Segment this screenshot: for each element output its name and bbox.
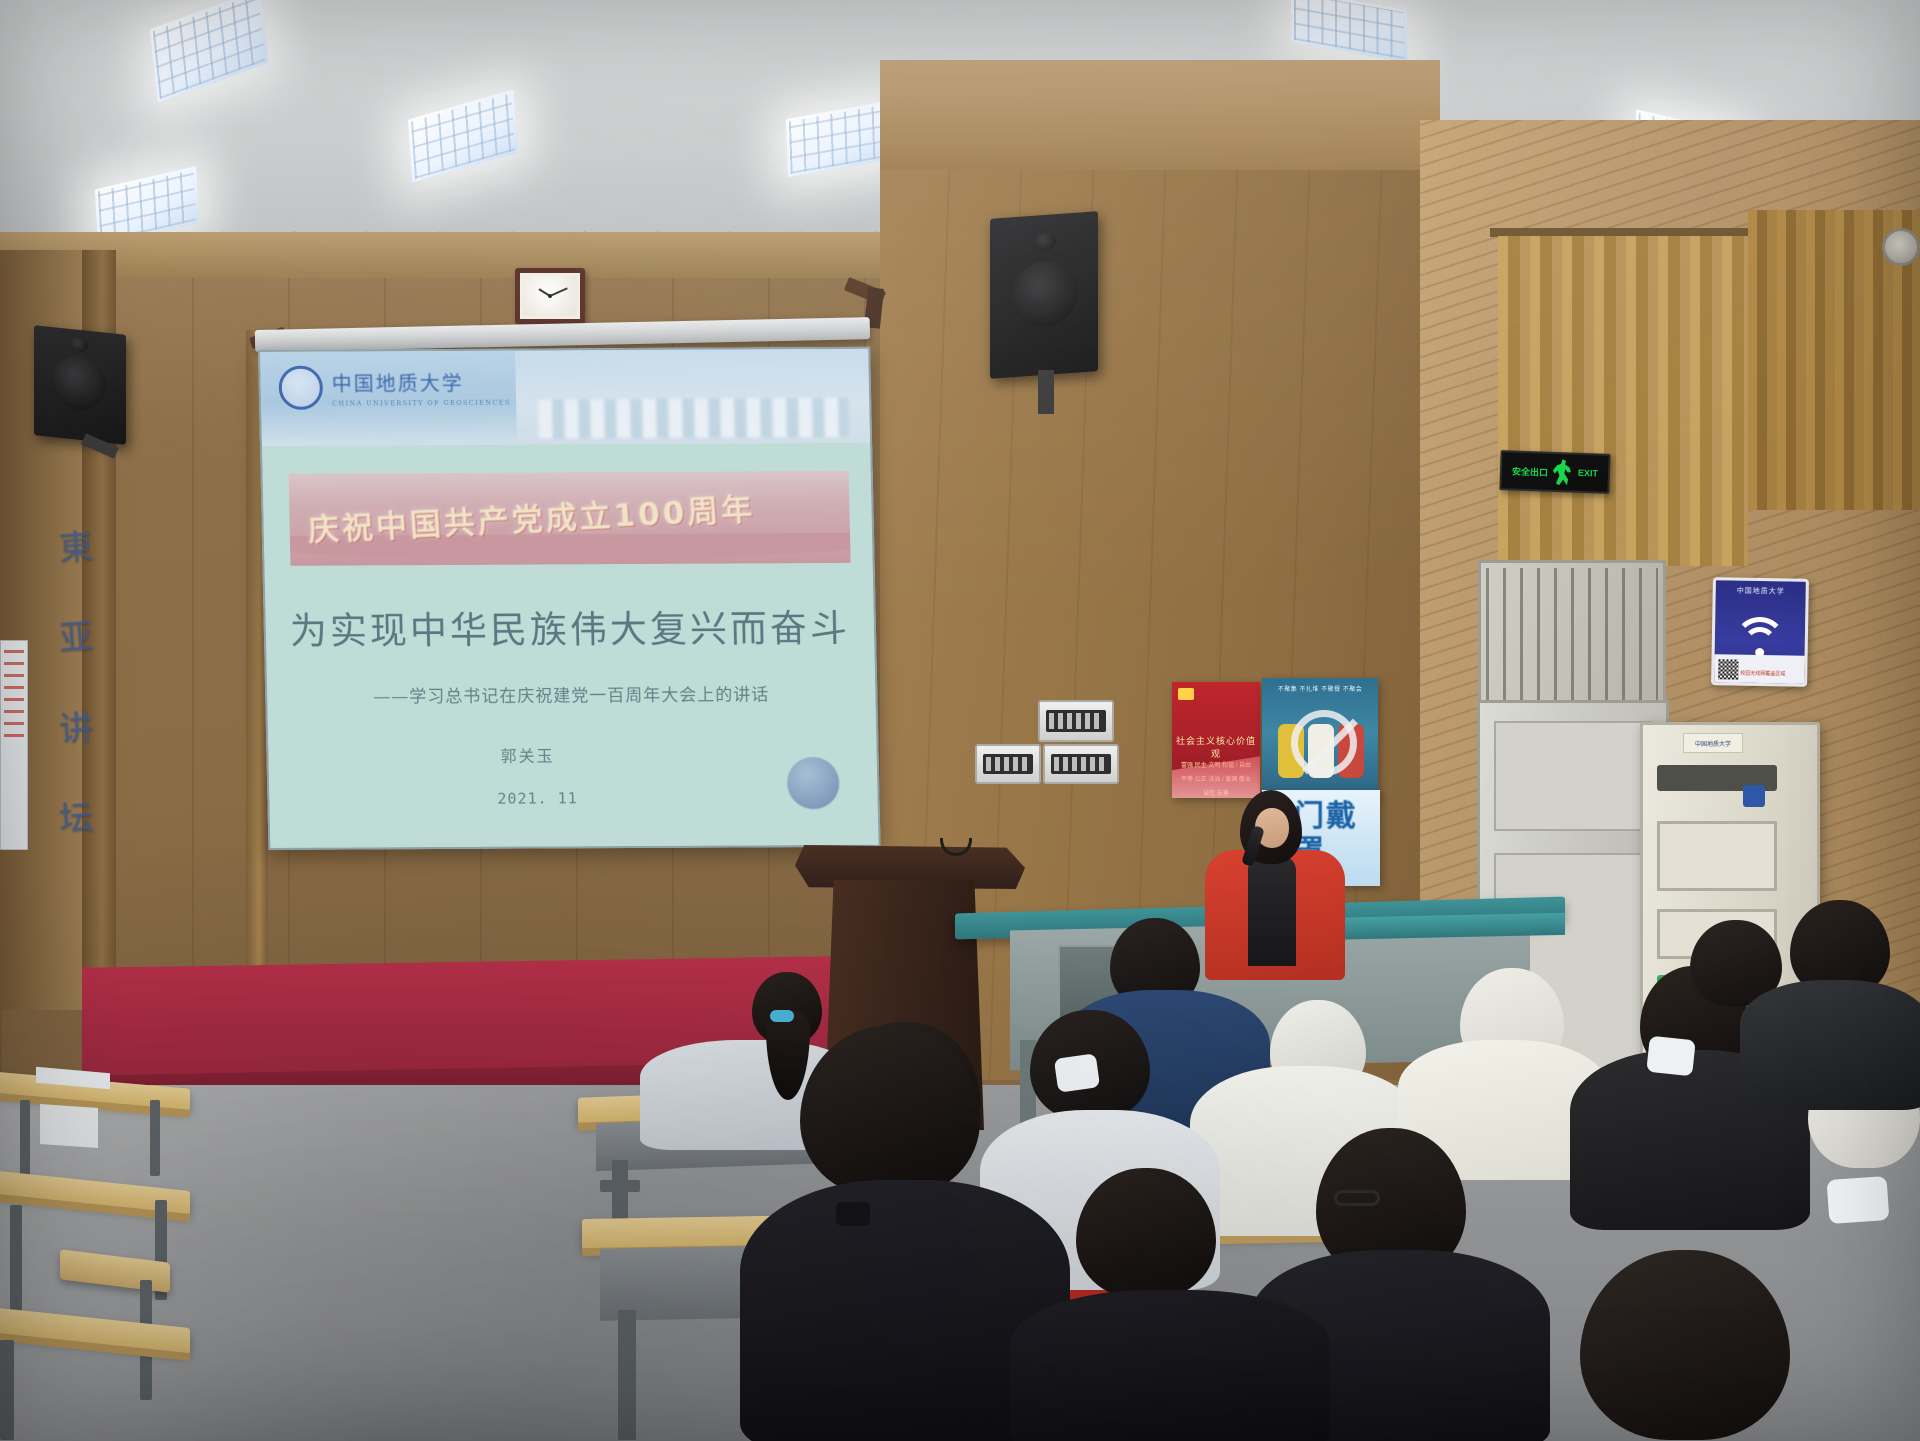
poster-red-title: 社会主义核心价值观 [1172,734,1260,760]
wall-fan-icon [1882,228,1920,266]
ceiling-light-2 [408,89,518,183]
ceiling-light-5 [1291,0,1407,63]
qr-code-icon [1718,659,1738,679]
speaker-bracket-right [1038,370,1054,414]
calligraphy-char-4: 坛 [57,790,94,841]
wristwatch-icon [836,1202,870,1226]
ceiling-light-4 [786,101,892,178]
curtain-left [1498,236,1748,566]
audience-body-13 [1010,1290,1330,1441]
wall-clock [515,268,585,324]
wifi-coverage-sign: 中国地质大学 校园无线网覆盖区域 [1711,577,1809,687]
loudspeaker-left [34,325,126,445]
university-logo-icon [278,366,323,410]
running-person-icon [1552,459,1575,486]
audience-head-11 [800,1026,980,1196]
presentation-slide: 中国地质大学 CHINA UNIVERSITY OF GEOSCIENCES 庆… [260,349,878,848]
university-name-en: CHINA UNIVERSITY OF GEOSCIENCES [332,399,511,408]
wifi-icon [1732,617,1789,658]
university-name-cn: 中国地质大学 [331,367,510,397]
desk-left-1-frame-2 [150,1100,160,1176]
slide-body: 庆祝中国共产党成立100周年 为实现中华民族伟大复兴而奋斗 ——学习总书记在庆祝… [262,443,878,848]
loudspeaker-right [990,211,1098,379]
poster-core-values: 社会主义核心价值观 富强 民主 文明 和谐 / 自由 平等 公正 法治 / 爱国… [1172,682,1260,798]
door-panel-upper [1494,721,1652,831]
electrical-breaker-panel-right [1043,744,1119,784]
university-logo: 中国地质大学 CHINA UNIVERSITY OF GEOSCIENCES [278,365,511,410]
cabinet-blue-label [1743,785,1765,807]
slide-header: 中国地质大学 CHINA UNIVERSITY OF GEOSCIENCES [260,349,870,446]
audience-head-13 [1076,1168,1216,1298]
lecture-hall-photo: 東 亚 讲 坛 中国地质大学 CHI [0,0,1920,1441]
projection-screen: 中国地质大学 CHINA UNIVERSITY OF GEOSCIENCES 庆… [258,347,881,850]
emergency-exit-sign: 安全出口 EXIT [1499,450,1610,494]
electrical-breaker-panel-left [975,744,1041,784]
no-gathering-icon [1291,710,1357,776]
slide-subtitle: ——学习总书记在庆祝建党一百周年大会上的讲话 [267,680,876,708]
ceiling-light-1 [150,0,269,103]
globe-icon [787,757,840,809]
party-flag-icon [1178,688,1194,700]
wifi-sign-header: 中国地质大学 [1716,585,1806,597]
desk-row-2-leg [618,1310,636,1440]
poster-covid-top-text: 不聚集 不扎堆 不聚餐 不聚会 [1262,684,1378,693]
audience-head-12 [1580,1250,1790,1440]
desk-left-3-frame [0,1340,14,1440]
desk-row-2-hook [600,1180,640,1192]
calligraphy-char-1: 東 [57,519,94,570]
calligraphy-char-2: 亚 [57,609,94,660]
hair-tie-icon [770,1010,794,1022]
exit-sign-text-cn: 安全出口 [1512,464,1548,478]
exit-sign-text-en: EXIT [1578,468,1598,479]
cabinet-badge: 中国地质大学 [1683,733,1743,753]
cabinet-panel-upper [1657,821,1777,891]
electrical-breaker-panel-top [1038,700,1114,742]
poster-no-gathering: 不聚集 不扎堆 不聚餐 不聚会 [1262,678,1378,800]
wall-top-band [0,232,905,278]
face-mask-1 [1054,1053,1100,1093]
slide-date: 2021. 11 [497,789,578,807]
desk-left-2-frame [10,1205,22,1315]
slide-header-photo [515,349,870,445]
notice-board [0,640,28,850]
window-grill [1478,560,1666,712]
face-mask-2 [1646,1036,1696,1077]
eyeglasses-icon [1334,1190,1380,1206]
calligraphy-char-3: 讲 [57,700,94,751]
center-wall-top-band [880,60,1440,170]
face-mask-3 [1827,1176,1890,1224]
desk-left-paper-2 [40,1104,98,1148]
wall-calligraphy: 東 亚 讲 坛 [46,520,106,840]
slide-presenter-name: 郭关玉 [500,742,555,766]
slide-main-title: 为实现中华民族伟大复兴而奋斗 [265,598,874,655]
speaker-inner-top [1248,856,1296,966]
wifi-sign-footer-text: 校园无线网覆盖区域 [1740,670,1785,679]
wifi-sign-footer: 校园无线网覆盖区域 [1714,654,1804,684]
audience-body-14 [1740,980,1920,1110]
